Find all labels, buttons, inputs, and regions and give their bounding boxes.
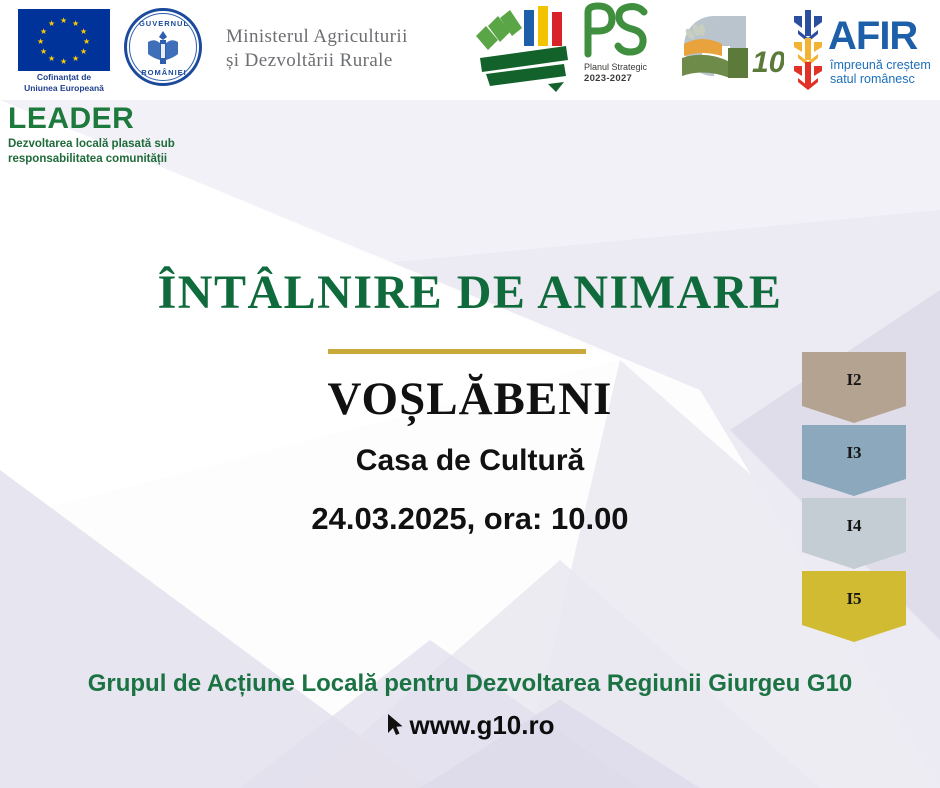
leader-title: LEADER: [8, 104, 175, 134]
event-location-name: VOȘLĂBENI: [0, 372, 940, 426]
planul-strategic-logo: Planul Strategic 2023-2027: [578, 0, 674, 100]
header-logo-bar: ★ ★ ★ ★ ★ ★ ★ ★ ★ ★ ★ ★ Cofinanțat de Un…: [0, 0, 940, 100]
chevron-i3-label: I3: [846, 443, 861, 463]
footer-website-label: www.g10.ro: [410, 710, 555, 740]
eagle-icon: [144, 28, 182, 68]
leader-logo-block: LEADER Dezvoltarea locală plasată sub re…: [8, 104, 175, 167]
afir-logo: AFIR împreună creștem satul românesc: [788, 0, 938, 100]
event-datetime: 24.03.2025, ora: 10.00: [0, 501, 940, 537]
seal-text-top: GUVERNUL: [118, 19, 210, 28]
chevron-i2-label: I2: [846, 370, 861, 390]
eu-flag-caption: Cofinanțat de Uniunea Europeană: [14, 72, 114, 93]
g10-mark-icon: 10: [672, 0, 784, 96]
ministry-line-2: și Dezvoltării Rurale: [226, 50, 393, 72]
afir-slogan-2: satul românesc: [830, 72, 915, 86]
footer-organization: Grupul de Acțiune Locală pentru Dezvolta…: [0, 670, 940, 698]
poster-canvas: ★ ★ ★ ★ ★ ★ ★ ★ ★ ★ ★ ★ Cofinanțat de Un…: [0, 0, 940, 788]
chevron-i3: I3: [802, 425, 906, 496]
pndr-stripes-logo: [468, 0, 574, 100]
cursor-arrow-icon: [386, 713, 404, 737]
chevron-i4-label: I4: [846, 516, 861, 536]
afir-wheat-icon: [790, 8, 826, 94]
eu-flag-logo: ★ ★ ★ ★ ★ ★ ★ ★ ★ ★ ★ ★ Cofinanțat de Un…: [14, 0, 114, 100]
ps-caption-1: Planul Strategic: [584, 62, 647, 72]
afir-wordmark: AFIR: [828, 16, 917, 56]
ministry-line-1: Ministerul Agriculturii: [226, 26, 408, 48]
chevron-i2: I2: [802, 352, 906, 423]
gold-divider: [328, 349, 586, 354]
g10-logo: 10: [672, 0, 784, 100]
svg-text:10: 10: [752, 46, 784, 79]
chevron-i4: I4: [802, 498, 906, 569]
event-headline: ÎNTÂLNIRE DE ANIMARE: [0, 265, 940, 320]
guvernul-romaniei-seal: GUVERNUL ROMÂNIEI: [118, 0, 210, 100]
seal-text-bottom: ROMÂNIEI: [118, 68, 210, 77]
leader-subtitle-1: Dezvoltarea locală plasată sub: [8, 137, 175, 152]
ps-caption-2: 2023-2027: [584, 73, 632, 84]
chevron-i5-label: I5: [846, 589, 861, 609]
pndr-stripes-icon: [468, 0, 574, 100]
ministerul-agriculturii-wordmark: Ministerul Agriculturii și Dezvoltării R…: [222, 0, 462, 100]
chevron-stack: I2 I3 I4 I5: [802, 352, 906, 644]
leader-subtitle-2: responsabilitatea comunității: [8, 152, 175, 167]
afir-slogan-1: împreună creștem: [830, 58, 931, 72]
eu-flag-icon: ★ ★ ★ ★ ★ ★ ★ ★ ★ ★ ★ ★: [18, 9, 110, 71]
chevron-i5: I5: [802, 571, 906, 642]
ps-monogram-icon: [578, 0, 658, 60]
event-venue: Casa de Cultură: [0, 444, 940, 478]
footer-website[interactable]: www.g10.ro: [0, 710, 940, 741]
